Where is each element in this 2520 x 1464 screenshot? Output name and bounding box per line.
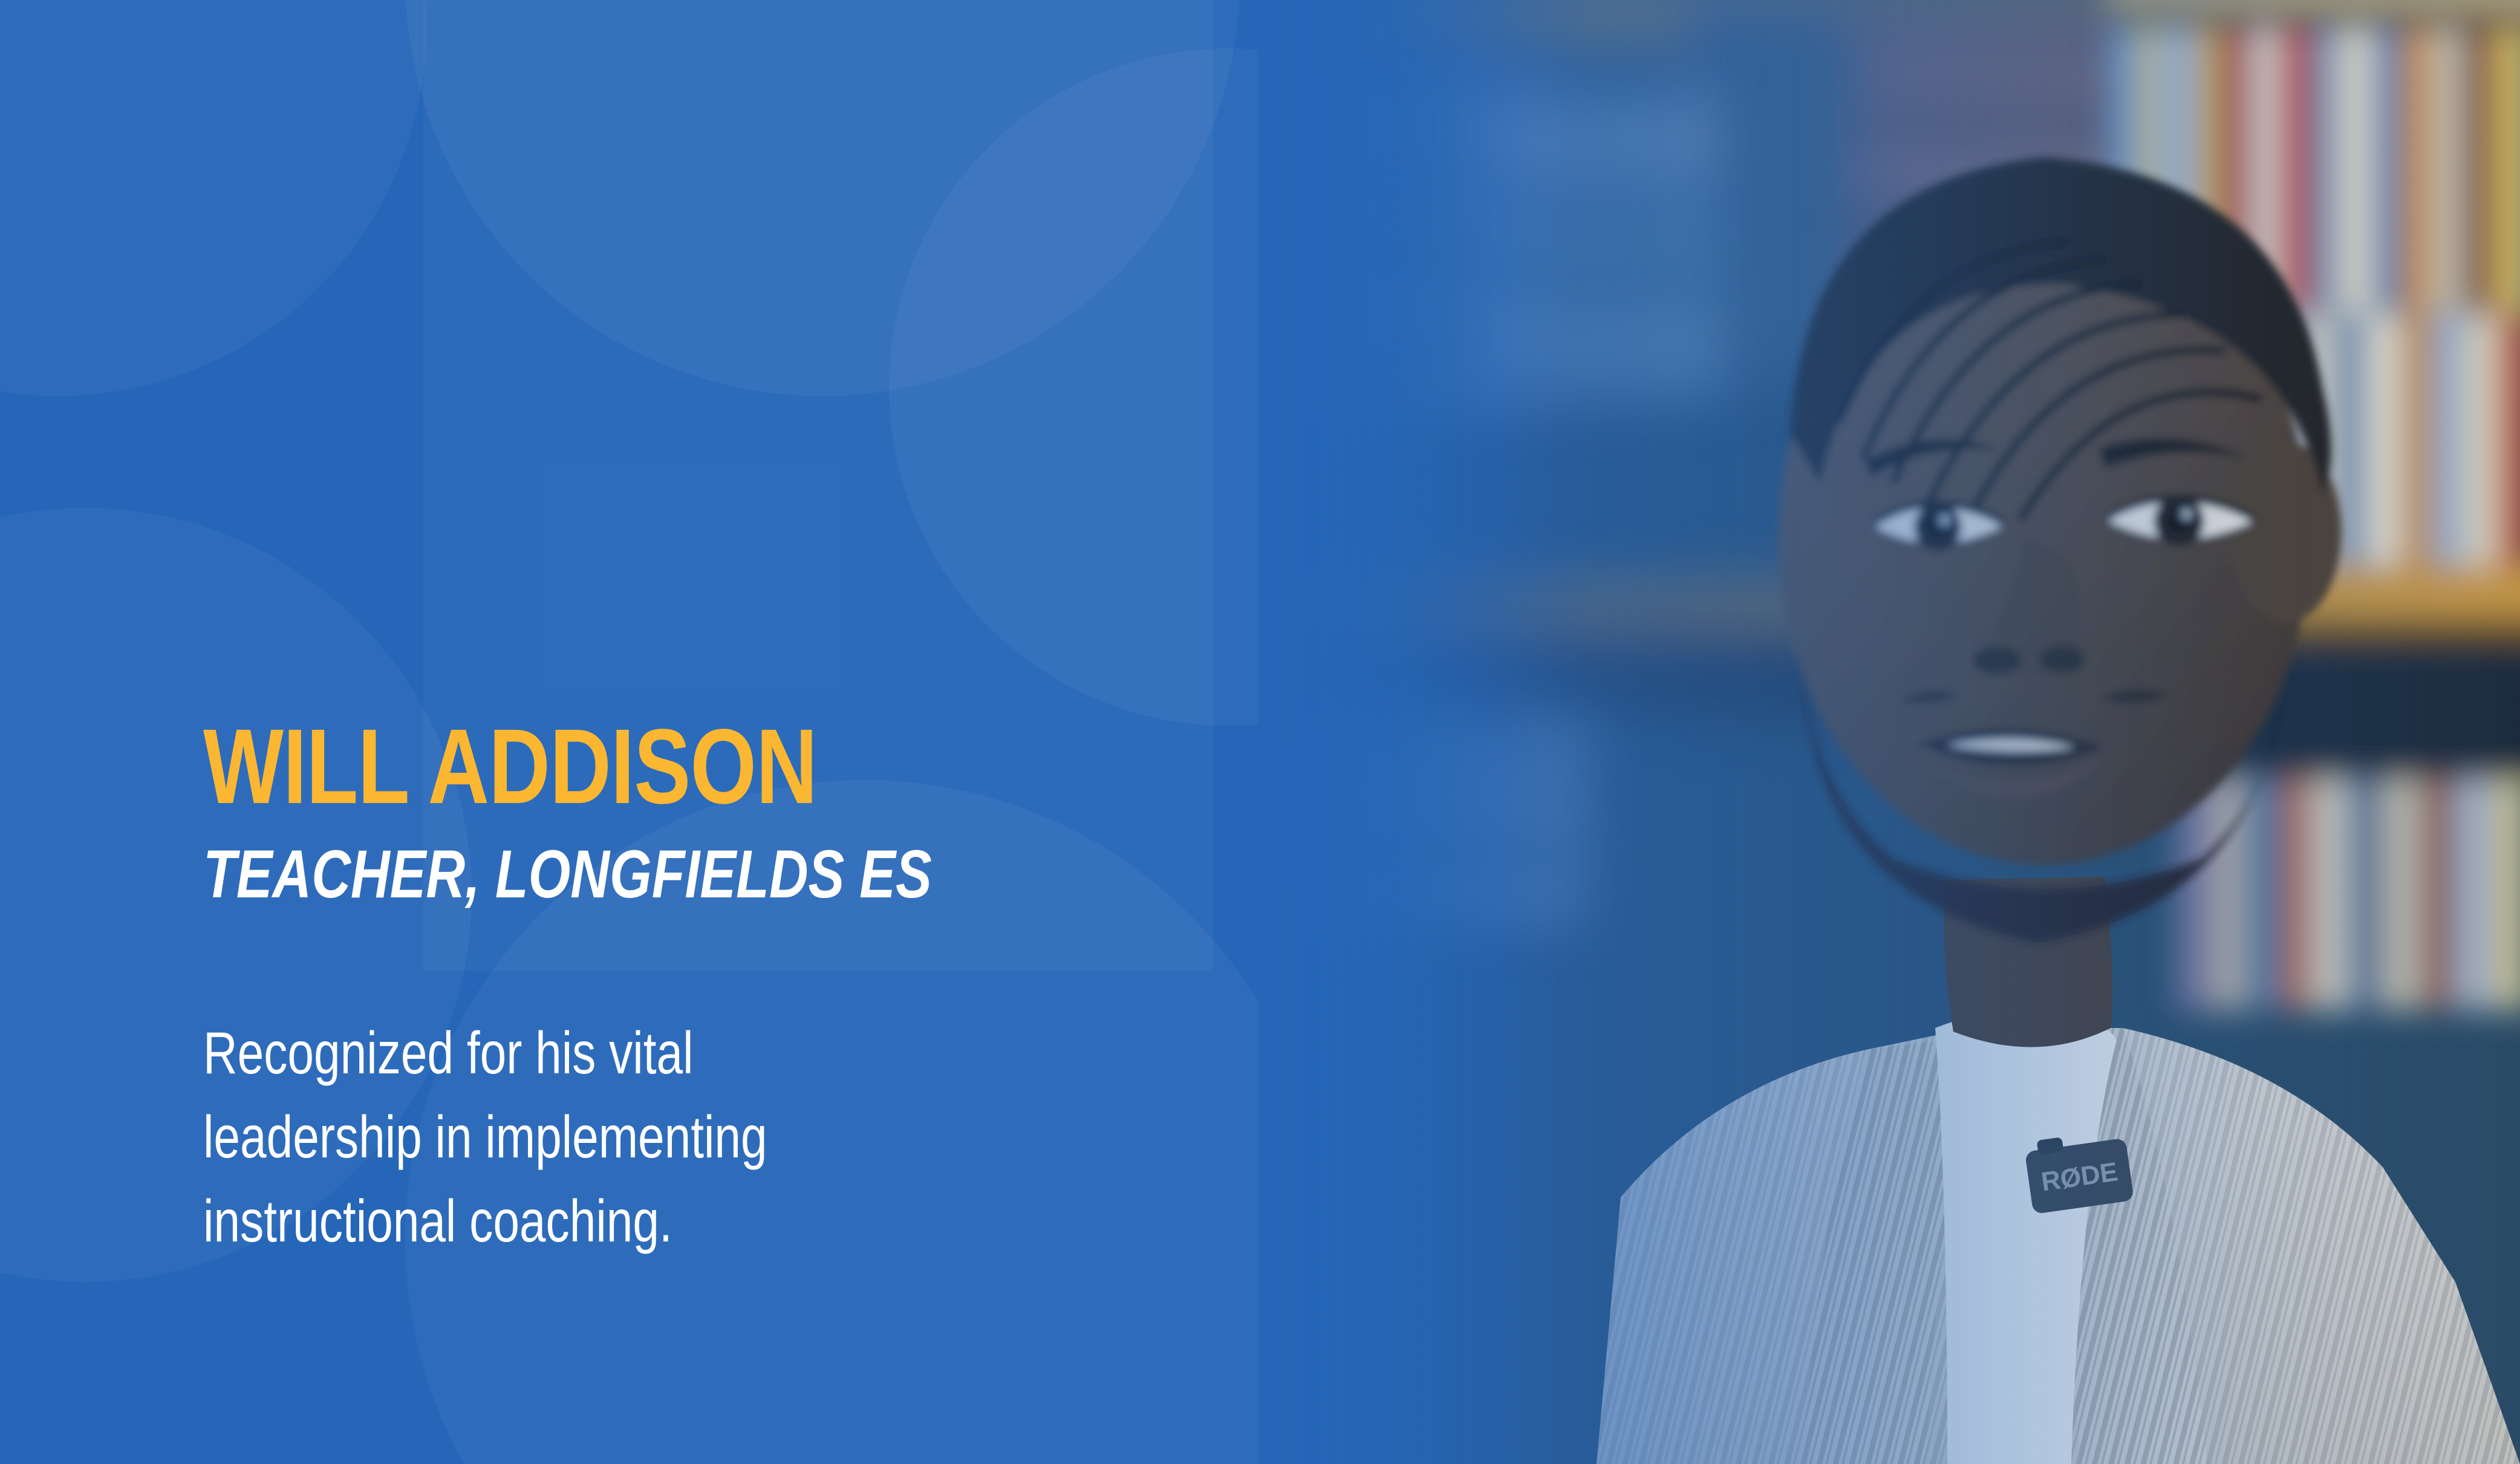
- person-name: WILL ADDISON: [203, 714, 929, 820]
- description-line: leadership in implementing: [203, 1095, 1074, 1179]
- decor-circle: [0, 0, 426, 396]
- description-line: instructional coaching.: [203, 1179, 1074, 1263]
- description-line: Recognized for his vital: [203, 1011, 1074, 1095]
- portrait-photo: RØDE: [1258, 0, 2520, 1464]
- person-text-block: WILL ADDISON TEACHER, LONGFIELDS ES Reco…: [203, 714, 1110, 1263]
- person-description: Recognized for his vital leadership in i…: [203, 1011, 1074, 1263]
- recognition-slide: RØDE WILL ADDISON TEACHER, LONGFIELDS ES…: [0, 0, 2520, 1464]
- person-role: TEACHER, LONGFIELDS ES: [203, 841, 929, 908]
